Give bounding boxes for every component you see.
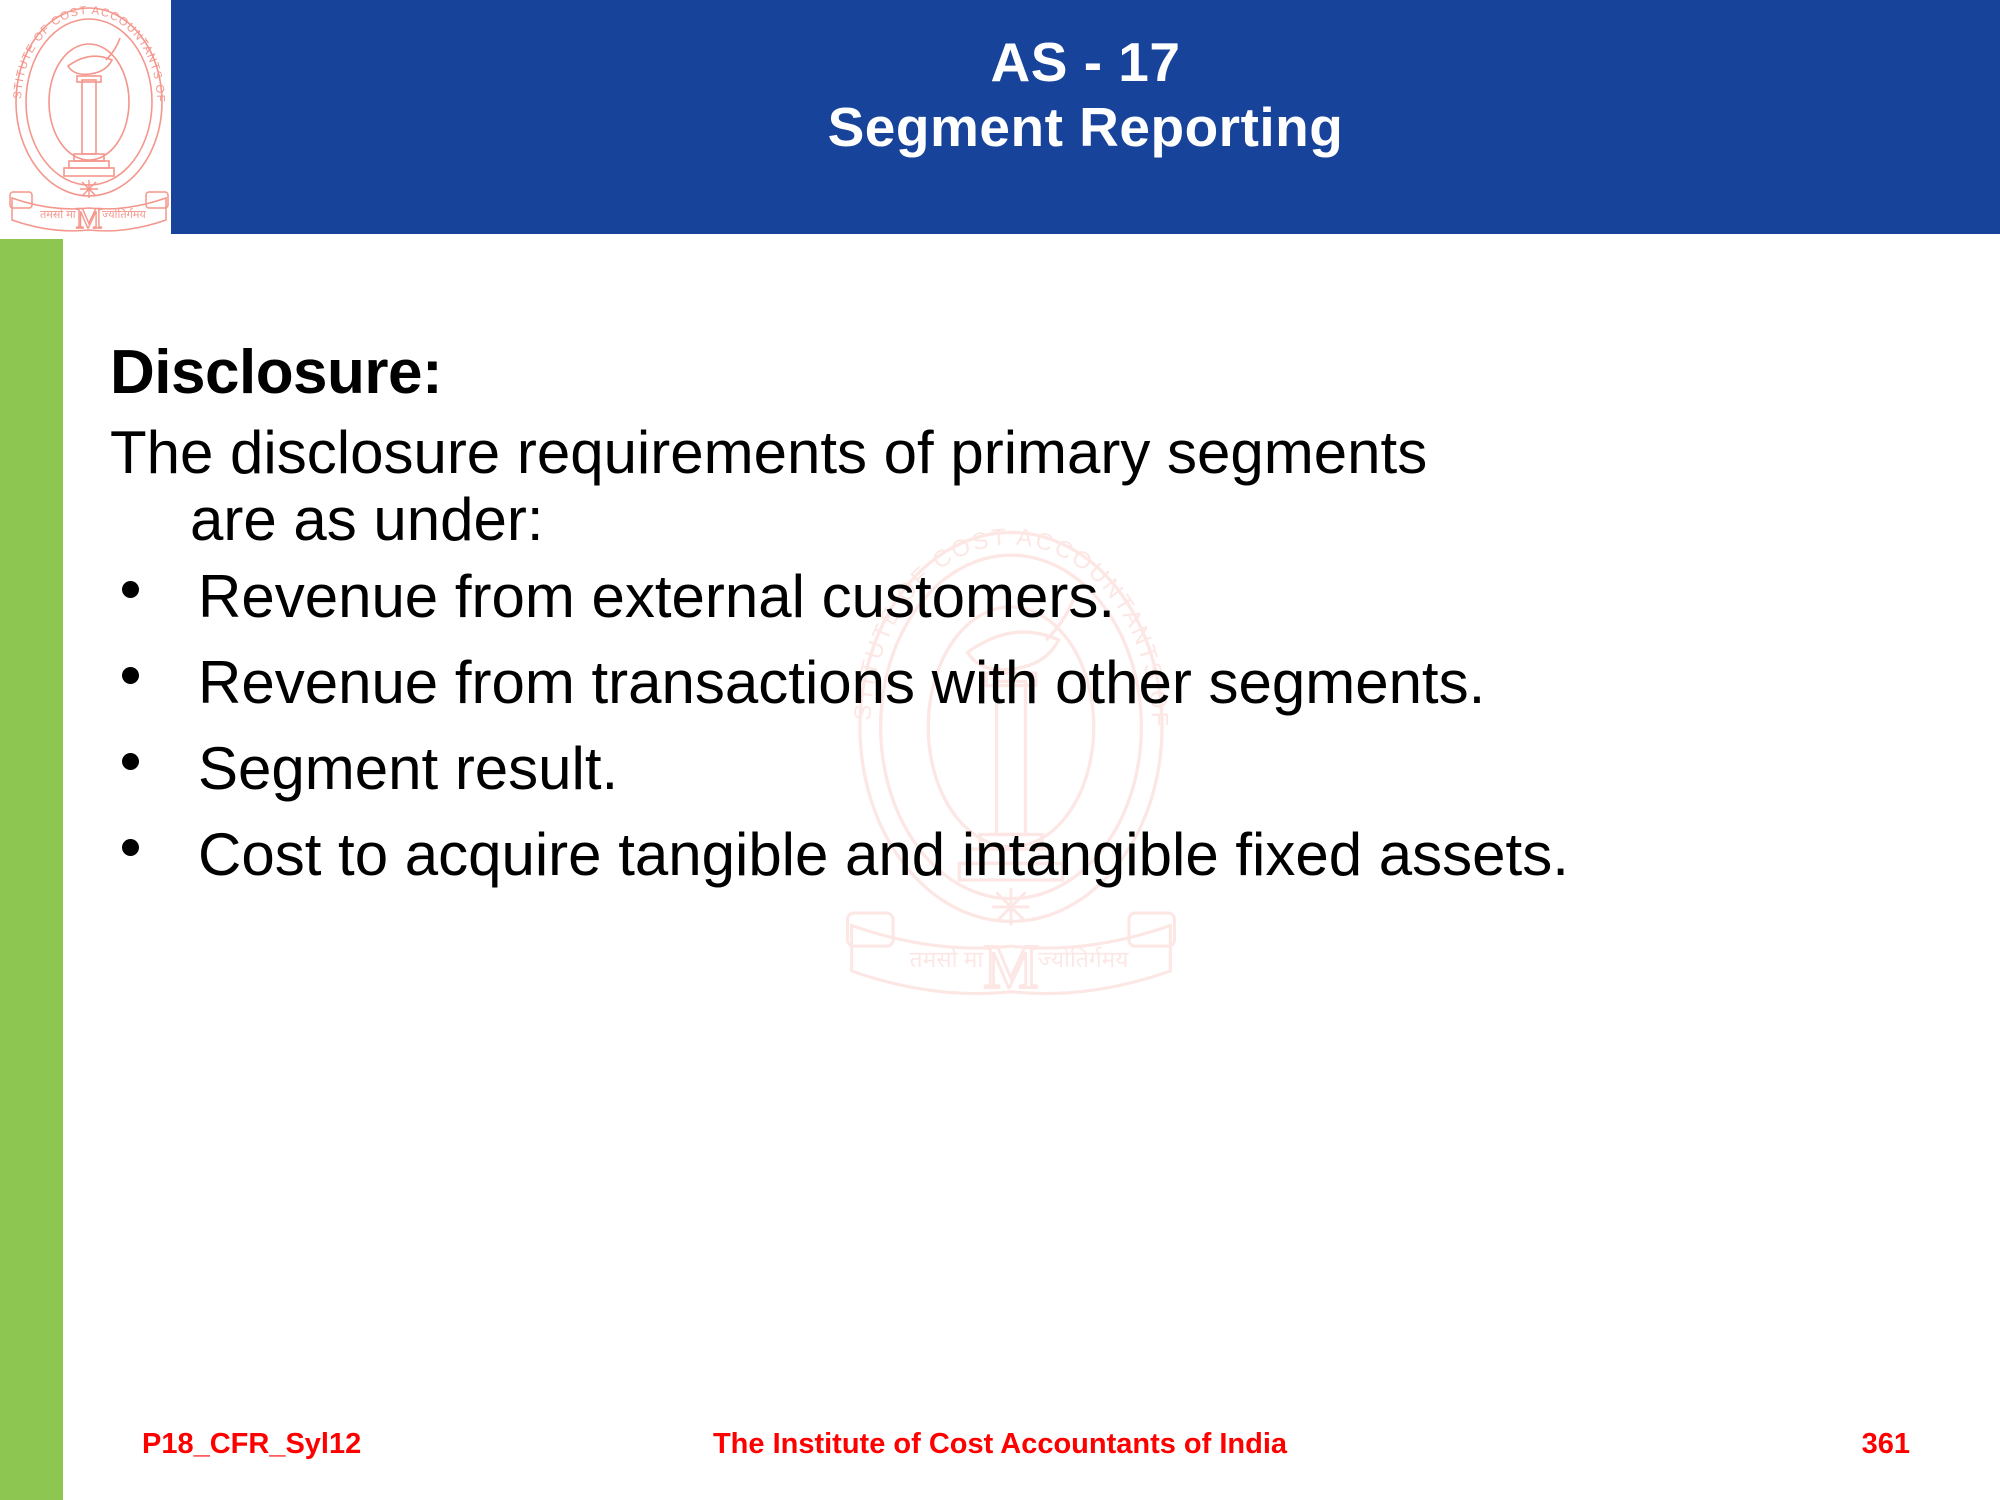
footer: P18_CFR_Syl12 The Institute of Cost Acco… xyxy=(0,1420,2000,1470)
list-item: Revenue from external customers. xyxy=(110,563,1870,631)
slide-content: Disclosure: The disclosure requirements … xyxy=(110,340,1870,907)
list-item: Cost to acquire tangible and intangible … xyxy=(110,821,1870,889)
list-item-label: Cost to acquire tangible and intangible … xyxy=(198,821,1569,888)
bullet-dot-icon xyxy=(122,839,139,856)
footer-page-number: 361 xyxy=(1862,1428,1910,1461)
footer-institute-name: The Institute of Cost Accountants of Ind… xyxy=(0,1428,2000,1461)
content-lead: The disclosure requirements of primary s… xyxy=(110,419,1870,553)
title-line-2: Segment Reporting xyxy=(171,95,2000,160)
list-item-label: Segment result. xyxy=(198,735,618,802)
icai-logo: THE INSTITUTE OF COST ACCOUNTANTS OF IND… xyxy=(6,2,172,234)
slide: AS - 17 Segment Reporting THE INSTITUTE … xyxy=(0,0,2000,1500)
list-item-label: Revenue from external customers. xyxy=(198,563,1115,630)
bullet-dot-icon xyxy=(122,753,139,770)
bullet-dot-icon xyxy=(122,581,139,598)
ribbon-text-left: तमसो मा xyxy=(40,208,76,221)
bullet-dot-icon xyxy=(122,667,139,684)
list-item: Segment result. xyxy=(110,735,1870,803)
lead-line-2: are as under: xyxy=(110,486,1870,553)
content-heading: Disclosure: xyxy=(110,340,1870,405)
bullet-list: Revenue from external customers. Revenue… xyxy=(110,563,1870,888)
svg-text:M: M xyxy=(983,934,1038,1000)
list-item: Revenue from transactions with other seg… xyxy=(110,649,1870,717)
svg-text:ज्योतिर्गमय: ज्योतिर्गमय xyxy=(1038,946,1129,972)
title-line-1: AS - 17 xyxy=(991,31,1181,93)
ribbon-text-right: ज्योतिर्गमय xyxy=(102,208,146,221)
monogram: M xyxy=(76,202,103,234)
svg-text:THE INSTITUTE OF COST ACCOUNTA: THE INSTITUTE OF COST ACCOUNTANTS OF IND… xyxy=(6,2,166,103)
page-title: AS - 17 Segment Reporting xyxy=(171,30,2000,160)
list-item-label: Revenue from transactions with other seg… xyxy=(198,649,1485,716)
left-accent-stripe xyxy=(0,239,63,1500)
icai-logo-icon: THE INSTITUTE OF COST ACCOUNTANTS OF IND… xyxy=(6,2,172,234)
lead-line-1: The disclosure requirements of primary s… xyxy=(110,419,1427,486)
svg-text:तमसो मा: तमसो मा xyxy=(910,946,985,972)
